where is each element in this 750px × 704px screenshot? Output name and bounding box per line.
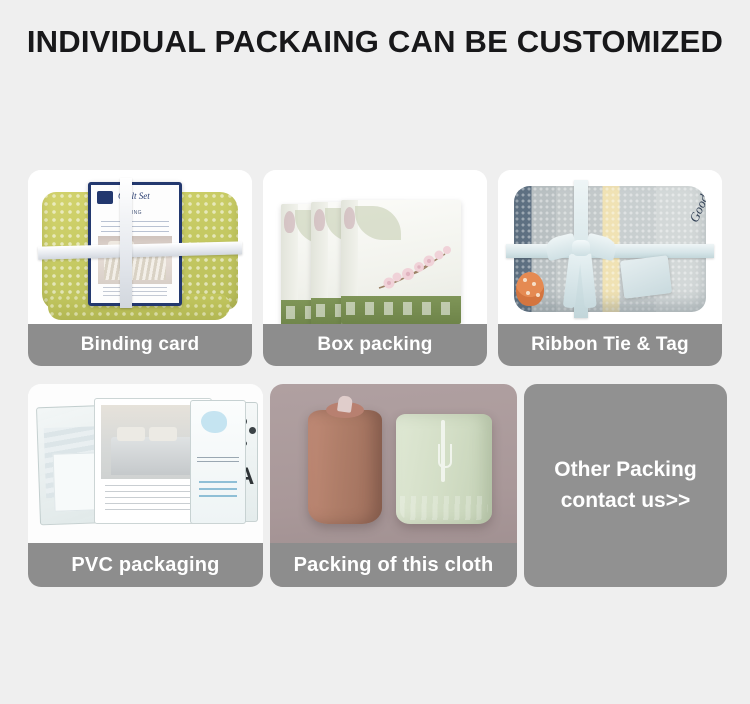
box-green-band <box>341 296 461 324</box>
watercolor-blob-icon <box>201 411 227 433</box>
hang-tag <box>620 255 672 299</box>
other-packing-line-1: Other Packing <box>554 455 696 485</box>
packaging-card-ribbon-tie-tag[interactable]: Good Ribbon Tie & Tag <box>498 170 722 366</box>
page-title: INDIVIDUAL PACKAING CAN BE CUSTOMIZED <box>25 22 725 63</box>
card-label-packing-of-this-cloth: Packing of this cloth <box>270 543 517 587</box>
insert-subtitle: KING <box>91 210 179 216</box>
insert-text-lines <box>101 221 169 232</box>
zipper-icon <box>441 420 445 482</box>
strap-vertical <box>120 178 132 308</box>
packaging-row-1: Quilt Set KING Binding card <box>28 170 722 366</box>
other-packing-text: Other Packing contact us>> <box>524 384 727 587</box>
insert-footer-lines <box>103 287 167 297</box>
pvc-bag-3 <box>190 400 246 524</box>
insert-highlight-lines <box>199 481 237 501</box>
other-packing-line-2[interactable]: contact us>> <box>561 486 691 516</box>
fabric-folds <box>400 496 488 520</box>
rolled-fabric-bundle <box>308 410 382 524</box>
brand-logo-icon <box>97 191 113 204</box>
packaging-options-grid: Quilt Set KING Binding card <box>28 170 722 587</box>
packaging-card-packing-of-this-cloth[interactable]: Packing of this cloth <box>270 384 517 587</box>
packaging-card-binding-card[interactable]: Quilt Set KING Binding card <box>28 170 252 366</box>
insert-text-lines <box>197 457 239 465</box>
card-label-box-packing: Box packing <box>263 324 487 366</box>
card-label-pvc-packaging: PVC packaging <box>28 543 263 587</box>
product-box-3 <box>341 200 461 324</box>
packaging-card-box-packing[interactable]: Box packing <box>263 170 487 366</box>
zipped-fabric-pouch <box>396 414 492 524</box>
card-label-binding-card: Binding card <box>28 324 252 366</box>
insert-text-lines <box>105 485 201 515</box>
blanket-printed-word: Good <box>686 192 706 225</box>
card-label-ribbon-tie-tag: Ribbon Tie & Tag <box>498 324 722 366</box>
packaging-card-other-packing[interactable]: Other Packing contact us>> <box>524 384 727 587</box>
cherry-blossom-icon <box>373 244 455 292</box>
drawstring-tie <box>337 395 353 413</box>
packaging-card-pvc-packaging[interactable]: A PVC packaging <box>28 384 263 587</box>
mushroom-motif-icon <box>516 272 544 306</box>
ribbon-bow-knot <box>572 240 590 256</box>
pvc-bag-group: A <box>36 396 255 528</box>
leaf-graphic-icon <box>355 206 401 240</box>
packaging-row-2: A PVC packaging Packing of this cloth <box>28 384 722 587</box>
